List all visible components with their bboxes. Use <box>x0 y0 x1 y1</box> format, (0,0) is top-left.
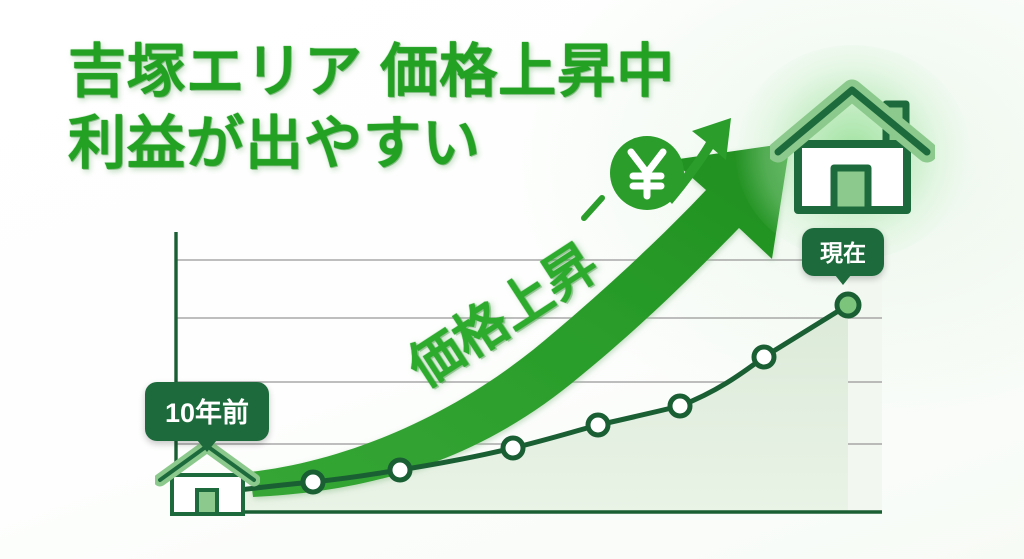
data-point[interactable] <box>670 396 690 416</box>
data-point[interactable] <box>588 415 608 435</box>
yen-coin-icon <box>600 126 710 226</box>
data-point[interactable] <box>503 438 523 458</box>
data-point[interactable] <box>303 472 323 492</box>
badge-10-years-ago[interactable]: 10年前 <box>145 382 269 441</box>
infographic-canvas: 価格上昇 10年前 現在 吉塚エリア 価格上昇中 利益が出やすい <box>0 0 1024 559</box>
data-point[interactable] <box>390 460 410 480</box>
data-point[interactable] <box>754 347 774 367</box>
badge-current[interactable]: 現在 <box>802 228 884 276</box>
data-point-current[interactable] <box>837 294 859 316</box>
house-icon-current <box>770 78 935 228</box>
